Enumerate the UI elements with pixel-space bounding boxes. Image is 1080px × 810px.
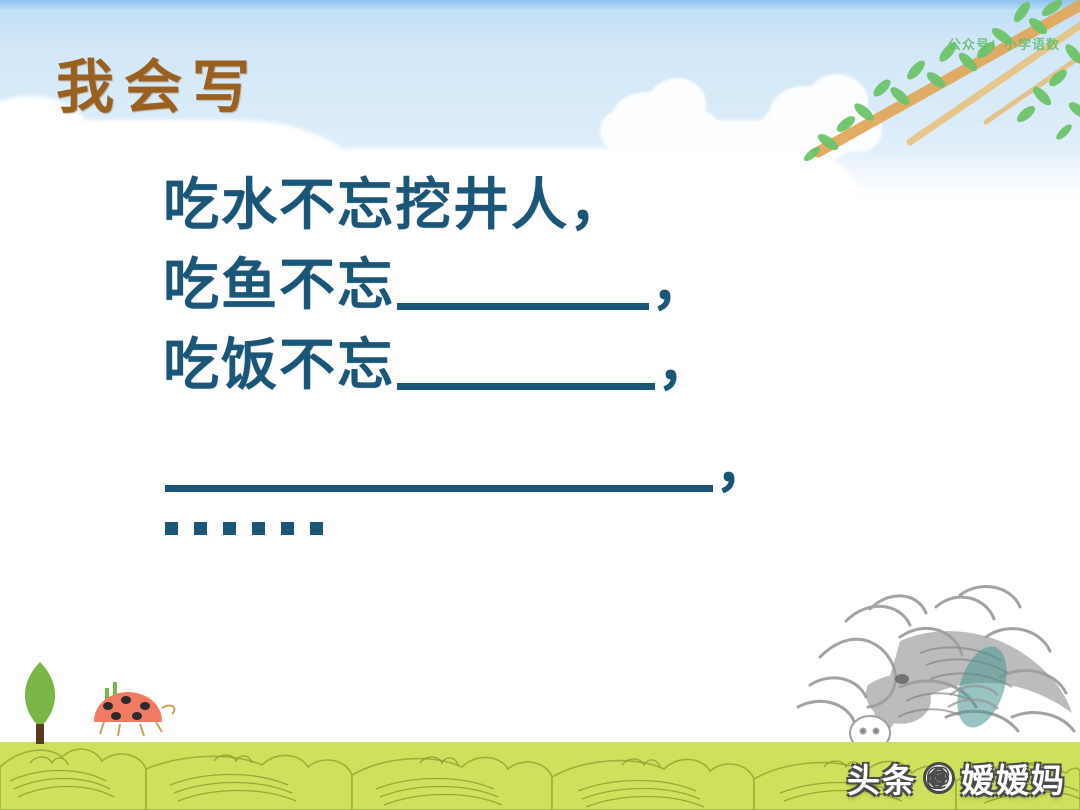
- line-3-comma: ，: [657, 338, 715, 394]
- body-line-2: 吃鱼不忘，: [163, 258, 709, 314]
- fill-in-blank[interactable]: [397, 266, 649, 310]
- ellipsis-dot: [223, 522, 236, 535]
- watermark-platform-label: 头条: [847, 754, 917, 802]
- body-line-4: ，: [163, 440, 773, 496]
- body-line-1: 吃水不忘挖井人，: [163, 178, 627, 234]
- fill-in-blank[interactable]: [165, 448, 713, 492]
- line-2-prefix: 吃鱼不忘: [163, 255, 395, 317]
- at-symbol-icon: @: [923, 762, 955, 794]
- line-2-comma: ，: [651, 258, 709, 314]
- watermark-handle: 嫒嫒妈: [961, 754, 1066, 802]
- tree-icon: [25, 662, 55, 744]
- fill-in-blank[interactable]: [397, 346, 655, 390]
- ladybug-icon: [94, 682, 174, 736]
- body-line-3: 吃饭不忘，: [163, 338, 715, 394]
- ellipsis-dot: [194, 522, 207, 535]
- ellipsis-dot: [252, 522, 265, 535]
- line-3-prefix: 吃饭不忘: [163, 335, 395, 397]
- ellipsis-dot: [165, 522, 178, 535]
- ellipsis-dot: [310, 522, 323, 535]
- ellipsis-marks: [165, 522, 323, 535]
- ellipsis-dot: [281, 522, 294, 535]
- bottom-left-scenery: [0, 650, 260, 760]
- line-4-comma: ，: [715, 440, 773, 496]
- slide-canvas: 我会写 公众号：小学语数 吃水不忘挖井人， 吃鱼不忘， 吃饭不忘， ，: [0, 0, 1080, 810]
- line-1-text: 吃水不忘挖井人，: [163, 175, 627, 237]
- watermark-bottom-right: 头条 @ 嫒嫒妈: [847, 754, 1066, 802]
